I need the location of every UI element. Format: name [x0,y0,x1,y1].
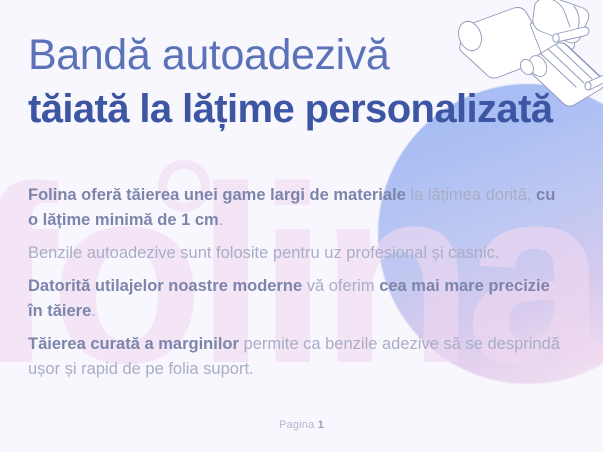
body-paragraph: Datorită utilajelor noastre moderne vă o… [28,274,568,324]
body-text-run: Benzile autoadezive sunt folosite pentru… [28,244,499,262]
footer-label: Pagina [279,419,314,431]
body-text-run: . [219,211,224,229]
headline-line-2: tăiată la lățime personalizată [28,84,588,134]
body-paragraph: Folina oferă tăierea unei game largi de … [28,183,568,233]
body-text-run: la lățimea dorită, [406,186,536,204]
footer-page-number: 1 [318,419,324,431]
headline-line-1: Bandă autoadezivă [28,30,588,80]
body-text-emphasis: Folina oferă tăierea unei game largi de … [28,186,406,204]
body-paragraph: Benzile autoadezive sunt folosite pentru… [28,241,568,266]
body-copy: Folina oferă tăierea unei game largi de … [28,183,568,382]
slide-canvas: folina [0,0,603,452]
body-text-emphasis: Tăierea curată a marginilor [28,335,239,353]
body-text-emphasis: Datorită utilajelor noastre moderne [28,277,302,295]
body-text-run: vă oferim [302,277,379,295]
page-footer: Pagina 1 [0,419,603,431]
page-title: Bandă autoadezivă tăiată la lățime perso… [28,30,588,134]
body-paragraph: Tăierea curată a marginilor permite ca b… [28,332,568,382]
body-text-run: . [91,302,96,320]
